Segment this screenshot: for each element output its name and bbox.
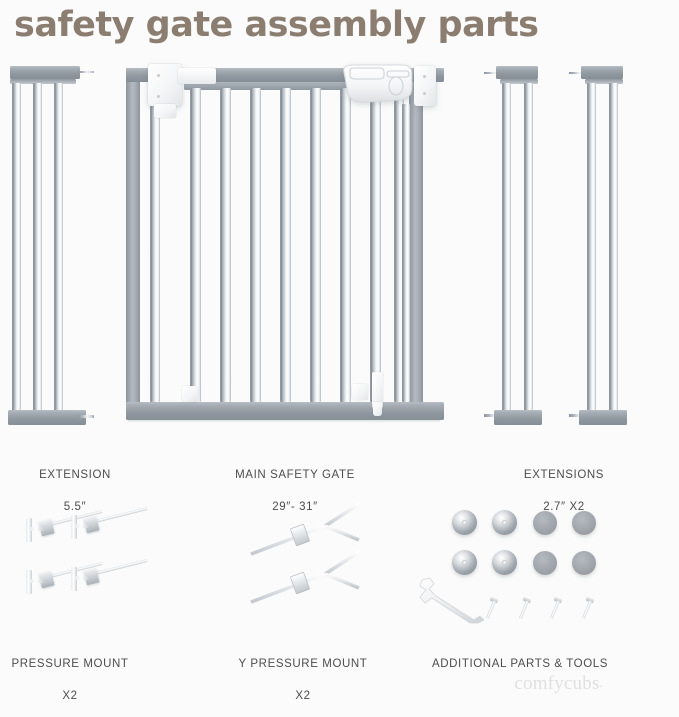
gate-bottom-latch-cap bbox=[373, 402, 382, 416]
gate-bar bbox=[280, 88, 291, 402]
y-mount-shape bbox=[249, 550, 364, 608]
wall-pad bbox=[533, 551, 557, 575]
screw bbox=[523, 598, 543, 620]
extension-right-bar bbox=[502, 83, 511, 411]
bolt-rod bbox=[91, 507, 148, 524]
label-extension-left-line1: EXTENSION bbox=[0, 467, 150, 483]
gate-bar bbox=[150, 82, 160, 402]
label-main-safety-gate-line1: MAIN SAFETY GATE bbox=[190, 467, 400, 483]
wall-pad bbox=[533, 511, 557, 535]
wrench-shape bbox=[418, 576, 488, 624]
page-title: safety gate assembly parts bbox=[14, 2, 654, 48]
screw-shaft bbox=[550, 600, 560, 619]
extension-right2-bar bbox=[587, 83, 596, 411]
extension-right2-top-rail bbox=[581, 66, 623, 79]
extension-left-bar bbox=[54, 83, 63, 411]
wall-cup bbox=[492, 510, 517, 535]
wall-cup bbox=[452, 510, 477, 535]
extension-right-top-rail bbox=[496, 66, 538, 79]
screw bbox=[586, 598, 606, 620]
label-pressure-mount-line2: X2 bbox=[0, 688, 140, 704]
bolt-rod bbox=[91, 559, 148, 576]
wrench-icon bbox=[418, 576, 488, 624]
brand-logo-text: comfycubs bbox=[514, 673, 599, 694]
bolt-tee-stem bbox=[75, 524, 89, 528]
screw-shaft bbox=[519, 600, 529, 619]
brand-logo-mark: . bbox=[600, 675, 603, 690]
pressure-mount-group bbox=[8, 502, 148, 622]
gate-bar bbox=[190, 88, 201, 402]
gate-latch-screw-icon bbox=[423, 92, 426, 95]
extension-right-illustration-2 bbox=[569, 66, 629, 428]
main-safety-gate-illustration bbox=[126, 66, 444, 428]
gate-hinge-bracket bbox=[148, 64, 182, 106]
wall-pad bbox=[572, 551, 596, 575]
gate-right-post bbox=[409, 68, 423, 410]
screw-shaft bbox=[582, 600, 592, 619]
gate-latch-bracket bbox=[414, 66, 436, 106]
label-extensions-right-line1: EXTENSIONS bbox=[471, 467, 657, 483]
additional-parts-group bbox=[420, 502, 620, 627]
wall-pad bbox=[572, 511, 596, 535]
extension-right-bar bbox=[524, 83, 533, 411]
gate-door-edge-bar bbox=[402, 104, 410, 402]
extension-left-top-rail bbox=[10, 66, 80, 79]
extension-left-bar bbox=[12, 83, 21, 411]
extension-left-illustration bbox=[8, 66, 94, 428]
extension-right-bottom-rail bbox=[494, 410, 542, 425]
gate-bar bbox=[310, 88, 321, 402]
gate-latch-screw-icon bbox=[423, 75, 426, 78]
y-pressure-mount-item bbox=[249, 550, 364, 608]
brand-logo: comfycubs. bbox=[514, 673, 603, 695]
bolt-tee-stem bbox=[30, 579, 44, 583]
gate-bar bbox=[250, 88, 261, 402]
label-y-pressure-mount: Y PRESSURE MOUNT X2 bbox=[218, 640, 388, 717]
extension-left-top-pin bbox=[78, 71, 94, 73]
y-pressure-mount-group bbox=[235, 500, 375, 625]
gate-bottom-rail-shadow bbox=[128, 418, 440, 423]
gate-left-post bbox=[126, 68, 140, 410]
extension-left-bottom-pin bbox=[78, 415, 94, 418]
screw bbox=[554, 598, 574, 620]
screw bbox=[490, 598, 510, 620]
gate-hinge-arm bbox=[178, 68, 216, 84]
pressure-mount-bolt bbox=[71, 557, 151, 597]
product-parts-diagram: safety gate assembly parts bbox=[0, 0, 679, 717]
extension-left-bottom-rail bbox=[8, 410, 86, 425]
gate-hinge-screw-icon bbox=[157, 95, 160, 98]
gate-hinge-lower-tab bbox=[154, 104, 176, 118]
label-pressure-mount-line1: PRESSURE MOUNT bbox=[0, 656, 140, 672]
bolt-tee-stem bbox=[30, 527, 44, 531]
gate-bottom-latch-block bbox=[352, 384, 368, 400]
label-y-pressure-mount-line1: Y PRESSURE MOUNT bbox=[218, 656, 388, 672]
extension-right-illustration bbox=[484, 66, 544, 428]
extension-left-bar bbox=[33, 83, 42, 411]
gate-bar bbox=[340, 88, 351, 402]
label-pressure-mount: PRESSURE MOUNT X2 bbox=[0, 640, 140, 717]
label-additional-parts-line1: ADDITIONAL PARTS & TOOLS bbox=[415, 656, 625, 672]
label-y-pressure-mount-line2: X2 bbox=[218, 688, 388, 704]
gate-door-bottom-block bbox=[182, 386, 198, 402]
bolt-tee-stem bbox=[75, 576, 89, 580]
pressure-mount-bolt bbox=[71, 505, 151, 545]
wall-cup bbox=[492, 550, 517, 575]
wall-cup bbox=[452, 550, 477, 575]
gate-hinge-screw-icon bbox=[157, 74, 160, 77]
extension-right2-bar bbox=[609, 83, 618, 411]
gate-bar bbox=[220, 88, 231, 402]
extension-right2-bottom-rail bbox=[579, 410, 627, 425]
gate-bar bbox=[370, 88, 381, 402]
